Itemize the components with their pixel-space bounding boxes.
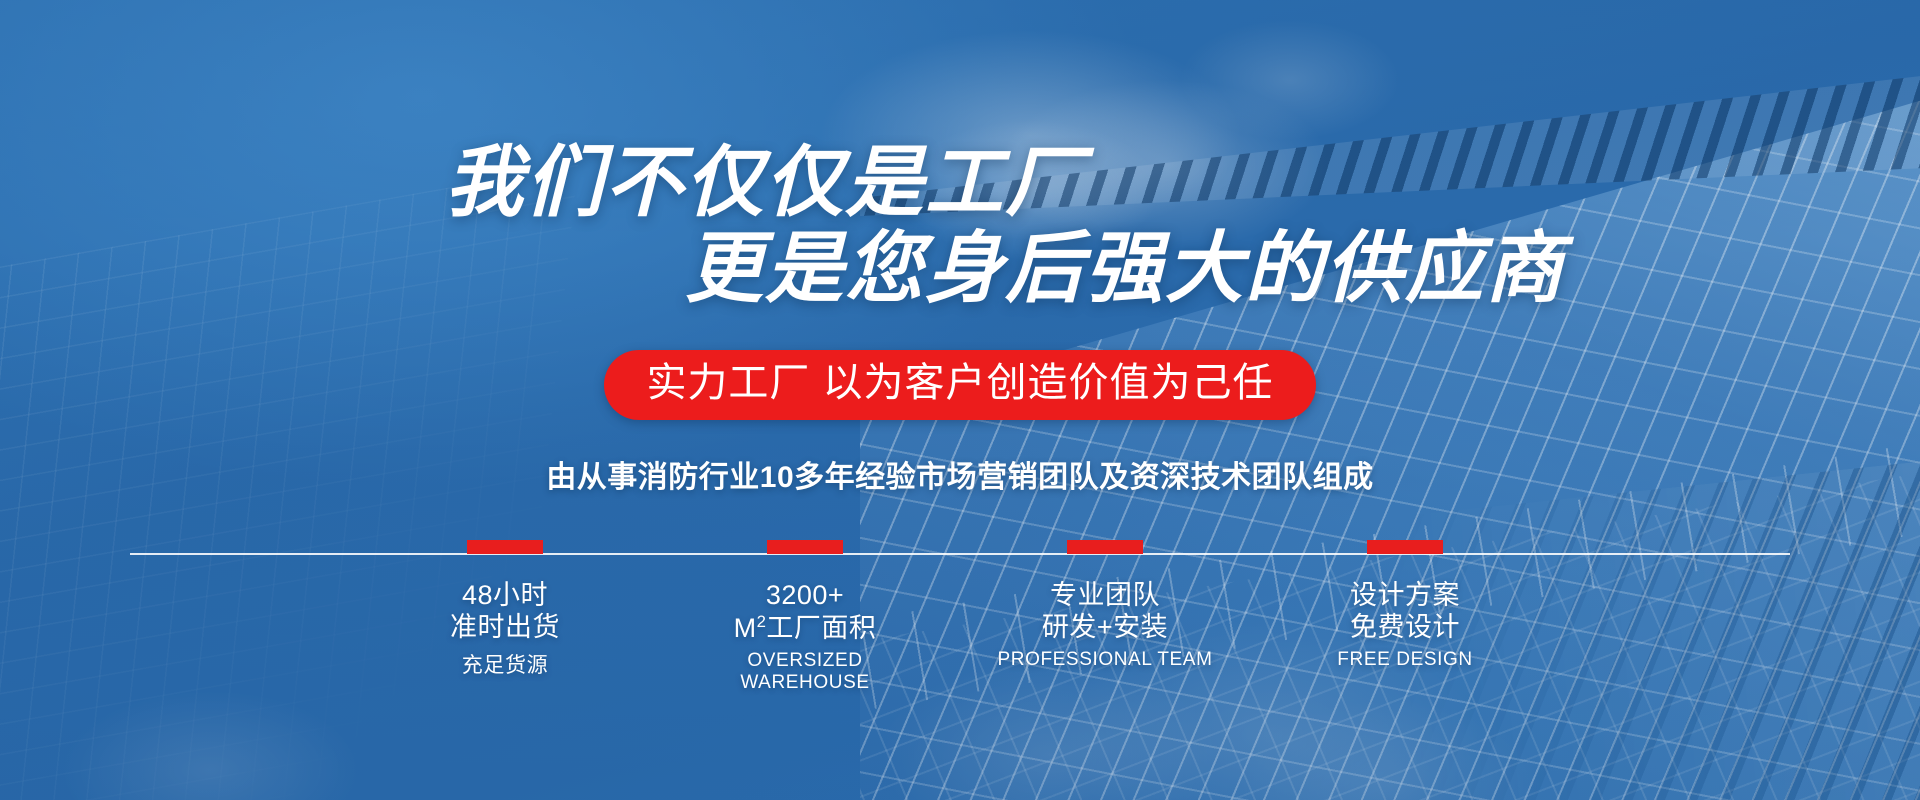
subtitle: 由从事消防行业10多年经验市场营销团队及资深技术团队组成 <box>0 452 1920 496</box>
red-bar-icon <box>767 540 843 554</box>
red-bar-icon <box>1067 540 1143 554</box>
slogan-pill: 实力工厂 以为客户创造价值为己任 <box>604 350 1315 420</box>
slogan-pill-container: 实力工厂 以为客户创造价值为己任 <box>0 350 1920 420</box>
feature-item-team: 专业团队 研发+安装 PROFESSIONAL TEAM <box>980 540 1230 694</box>
feature-unit-exponent: 2 <box>757 612 767 631</box>
feature-line-3: PROFESSIONAL TEAM <box>980 649 1230 671</box>
feature-line-1: 48小时 <box>380 580 630 612</box>
feature-line-2: 准时出货 <box>380 612 630 644</box>
red-bar-icon <box>1367 540 1443 554</box>
feature-line-1: 专业团队 <box>980 580 1230 612</box>
hero-banner: 我们不仅仅是工厂 更是您身后强大的供应商 实力工厂 以为客户创造价值为己任 由从… <box>0 0 1920 800</box>
red-bar-icon <box>467 540 543 554</box>
feature-item-shipping: 48小时 准时出货 充足货源 <box>380 540 630 694</box>
feature-line-2: M2工厂面积 <box>680 612 930 645</box>
headline-line-1: 我们不仅仅是工厂 <box>0 140 1920 226</box>
feature-line-3: 充足货源 <box>380 649 630 679</box>
feature-unit-prefix: M <box>734 613 757 643</box>
banner-content: 我们不仅仅是工厂 更是您身后强大的供应商 实力工厂 以为客户创造价值为己任 由从… <box>0 0 1920 800</box>
headline-line-2: 更是您身后强大的供应商 <box>0 226 1920 312</box>
feature-line-1: 设计方案 <box>1280 580 1530 612</box>
feature-item-design: 设计方案 免费设计 FREE DESIGN <box>1280 540 1530 694</box>
feature-unit-suffix: 工厂面积 <box>766 613 876 643</box>
feature-line-2: 免费设计 <box>1280 612 1530 644</box>
feature-line-3: OVERSIZED WAREHOUSE <box>680 650 930 694</box>
feature-line-3: FREE DESIGN <box>1280 649 1530 671</box>
headline: 我们不仅仅是工厂 更是您身后强大的供应商 <box>0 140 1920 312</box>
feature-row: 48小时 准时出货 充足货源 3200+ M2工厂面积 OVERSIZED WA… <box>380 540 1530 694</box>
feature-item-warehouse: 3200+ M2工厂面积 OVERSIZED WAREHOUSE <box>680 540 930 694</box>
feature-line-2: 研发+安装 <box>980 612 1230 644</box>
feature-line-1: 3200+ <box>680 580 930 612</box>
